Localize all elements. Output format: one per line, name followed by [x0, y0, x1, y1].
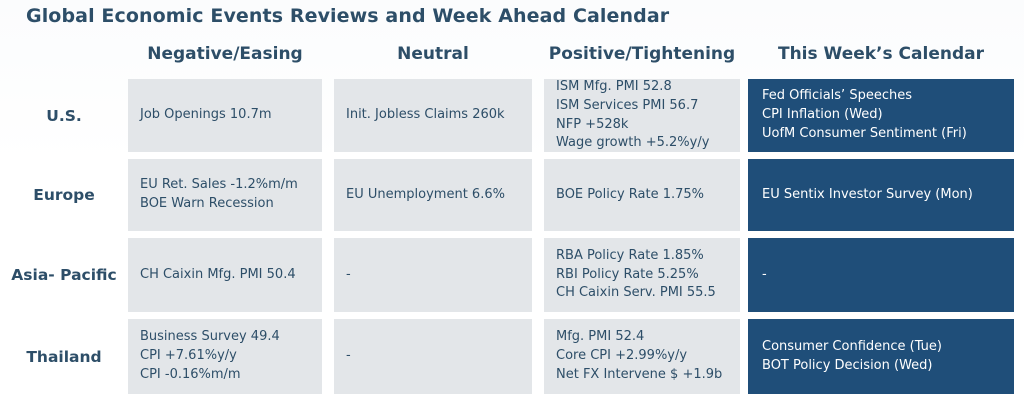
- cell-thailand-neutral: -: [334, 319, 532, 394]
- cell-us-neutral: Init. Jobless Claims 260k: [334, 79, 532, 152]
- column-header-negative-easing: Negative/Easing: [128, 39, 322, 69]
- events-table: Negative/Easing Neutral Positive/Tighten…: [0, 36, 1024, 408]
- table-row: Thailand Business Survey 49.4 CPI +7.61%…: [0, 316, 1024, 398]
- cell-us-calendar: Fed Officials’ Speeches CPI Inflation (W…: [748, 79, 1014, 152]
- page-title: Global Economic Events Reviews and Week …: [26, 5, 669, 27]
- table-row: Europe EU Ret. Sales -1.2%m/m BOE Warn R…: [0, 156, 1024, 235]
- column-header-positive-tightening: Positive/Tightening: [544, 39, 740, 69]
- cell-asia-negative: CH Caixin Mfg. PMI 50.4: [128, 238, 322, 312]
- table-row: Asia- Pacific CH Caixin Mfg. PMI 50.4 - …: [0, 235, 1024, 316]
- cell-thailand-positive: Mfg. PMI 52.4 Core CPI +2.99%y/y Net FX …: [544, 319, 740, 394]
- row-label-europe: Europe: [6, 156, 122, 235]
- cell-europe-neutral: EU Unemployment 6.6%: [334, 159, 532, 231]
- cell-us-negative: Job Openings 10.7m: [128, 79, 322, 152]
- table-body: U.S. Job Openings 10.7m Init. Jobless Cl…: [0, 76, 1024, 398]
- cell-us-positive: ISM Mfg. PMI 52.8 ISM Services PMI 56.7 …: [544, 79, 740, 152]
- column-header-neutral: Neutral: [334, 39, 532, 69]
- cell-europe-negative: EU Ret. Sales -1.2%m/m BOE Warn Recessio…: [128, 159, 322, 231]
- cell-asia-calendar: -: [748, 238, 1014, 312]
- cell-asia-positive: RBA Policy Rate 1.85% RBI Policy Rate 5.…: [544, 238, 740, 312]
- cell-europe-calendar: EU Sentix Investor Survey (Mon): [748, 159, 1014, 231]
- row-label-thailand: Thailand: [6, 316, 122, 398]
- cell-thailand-calendar: Consumer Confidence (Tue) BOT Policy Dec…: [748, 319, 1014, 394]
- cell-europe-positive: BOE Policy Rate 1.75%: [544, 159, 740, 231]
- cell-thailand-negative: Business Survey 49.4 CPI +7.61%y/y CPI -…: [128, 319, 322, 394]
- table-header-row: Negative/Easing Neutral Positive/Tighten…: [0, 36, 1024, 76]
- row-label-us: U.S.: [6, 76, 122, 156]
- column-header-this-weeks-calendar: This Week’s Calendar: [748, 39, 1014, 69]
- row-label-asia-pacific: Asia- Pacific: [6, 235, 122, 316]
- table-row: U.S. Job Openings 10.7m Init. Jobless Cl…: [0, 76, 1024, 156]
- cell-asia-neutral: -: [334, 238, 532, 312]
